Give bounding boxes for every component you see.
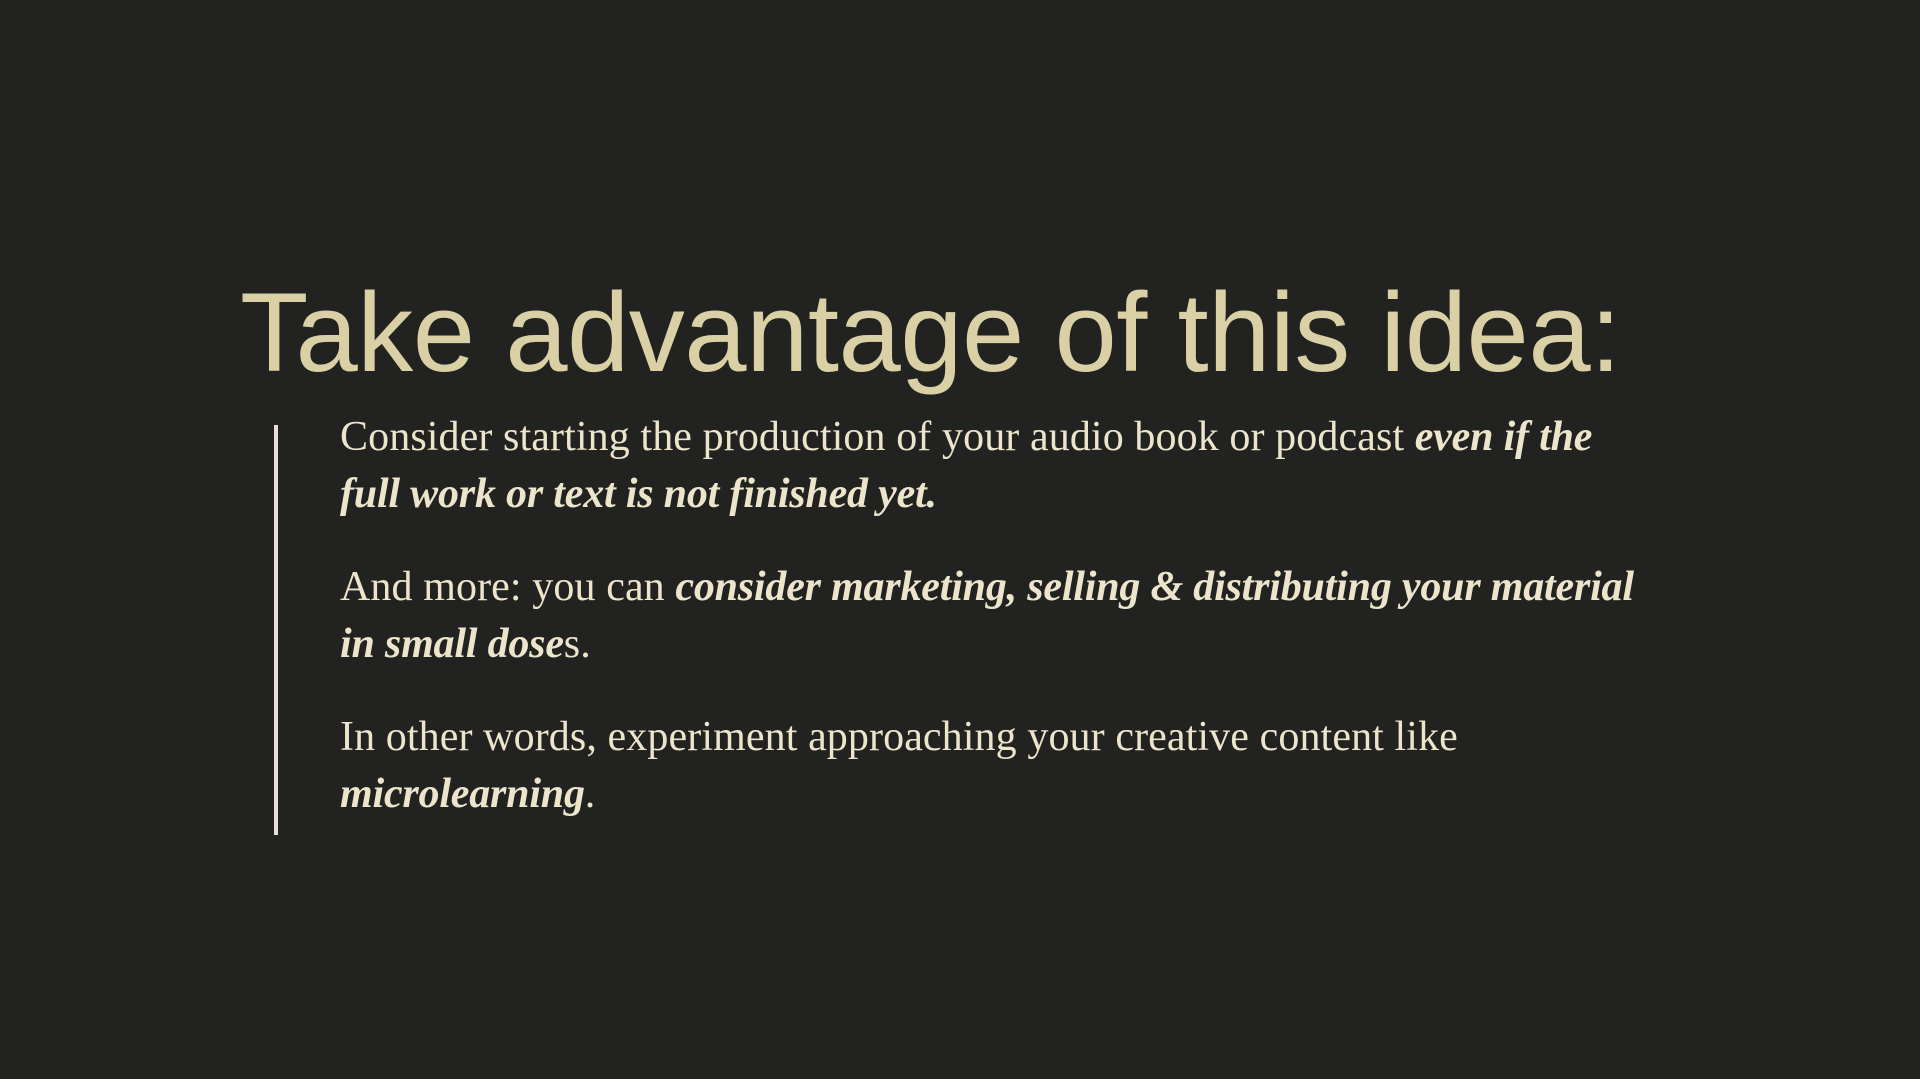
list-item: In other words, experiment approaching y… <box>340 709 1660 823</box>
slide-canvas: Take advantage of this idea: Consider st… <box>0 0 1920 1079</box>
paragraph-list: Consider starting the production of your… <box>340 409 1660 823</box>
paragraph-2-lead: And more: you can <box>340 564 675 610</box>
list-item: And more: you can consider marketing, se… <box>340 559 1660 673</box>
paragraph-3-emphasis: microlearning <box>340 771 585 817</box>
vertical-accent-rule <box>274 425 278 835</box>
paragraph-3-tail: . <box>585 771 596 817</box>
body-content-block: Consider starting the production of your… <box>274 425 1674 835</box>
paragraph-3-lead: In other words, experiment approaching y… <box>340 714 1458 760</box>
page-title: Take advantage of this idea: <box>240 277 1800 389</box>
paragraph-1-lead: Consider starting the production of your… <box>340 414 1415 460</box>
list-item: Consider starting the production of your… <box>340 409 1660 523</box>
paragraph-2-tail: s. <box>564 621 591 667</box>
